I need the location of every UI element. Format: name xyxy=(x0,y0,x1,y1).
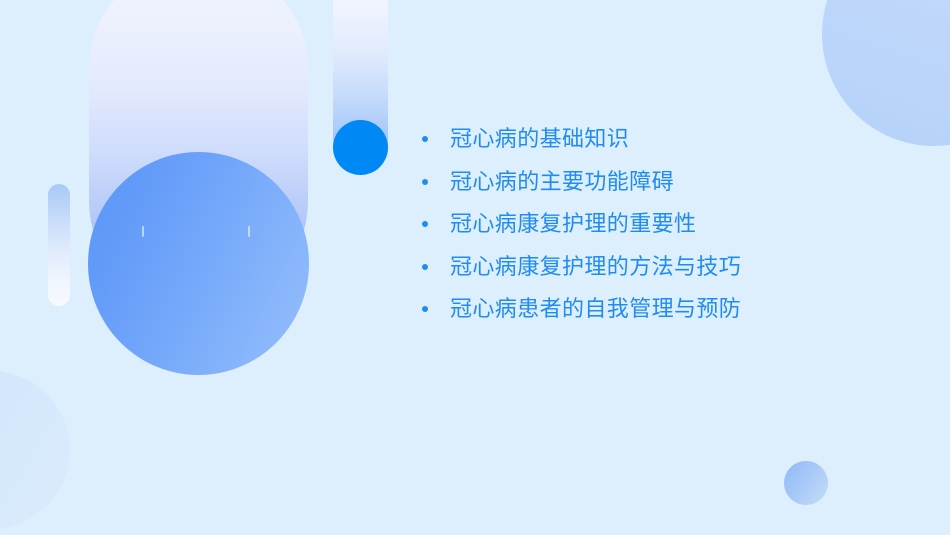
bullet-dot-icon xyxy=(422,264,428,270)
list-item-label: 冠心病康复护理的重要性 xyxy=(450,212,696,236)
decor-bar-wide xyxy=(89,0,308,310)
slide-canvas: 冠心病的基础知识 冠心病的主要功能障碍 冠心病康复护理的重要性 冠心病康复护理的… xyxy=(0,0,950,535)
list-item[interactable]: 冠心病的基础知识 xyxy=(422,118,902,161)
list-item-label: 冠心病患者的自我管理与预防 xyxy=(450,297,741,321)
decor-tick-left xyxy=(142,226,144,237)
bullet-dot-icon xyxy=(422,179,428,185)
list-item[interactable]: 冠心病康复护理的重要性 xyxy=(422,203,902,246)
list-item[interactable]: 冠心病的主要功能障碍 xyxy=(422,161,902,204)
decor-bar-narrow xyxy=(333,0,388,174)
decor-pill-left xyxy=(48,184,70,306)
bullet-dot-icon xyxy=(422,306,428,312)
decor-circle-main xyxy=(88,152,309,375)
bullet-dot-icon xyxy=(422,136,428,142)
list-item[interactable]: 冠心病康复护理的方法与技巧 xyxy=(422,246,902,289)
decor-tick-right xyxy=(248,226,250,237)
list-item-label: 冠心病的基础知识 xyxy=(450,127,629,151)
list-item[interactable]: 冠心病患者的自我管理与预防 xyxy=(422,288,902,331)
decor-circle-bottom-right xyxy=(784,461,828,505)
list-item-label: 冠心病康复护理的方法与技巧 xyxy=(450,255,741,279)
list-item-label: 冠心病的主要功能障碍 xyxy=(450,170,674,194)
bullet-dot-icon xyxy=(422,221,428,227)
agenda-bullet-list: 冠心病的基础知识 冠心病的主要功能障碍 冠心病康复护理的重要性 冠心病康复护理的… xyxy=(422,118,902,331)
decor-accent-dot xyxy=(333,120,388,175)
decor-circle-bottom-left xyxy=(0,371,70,529)
